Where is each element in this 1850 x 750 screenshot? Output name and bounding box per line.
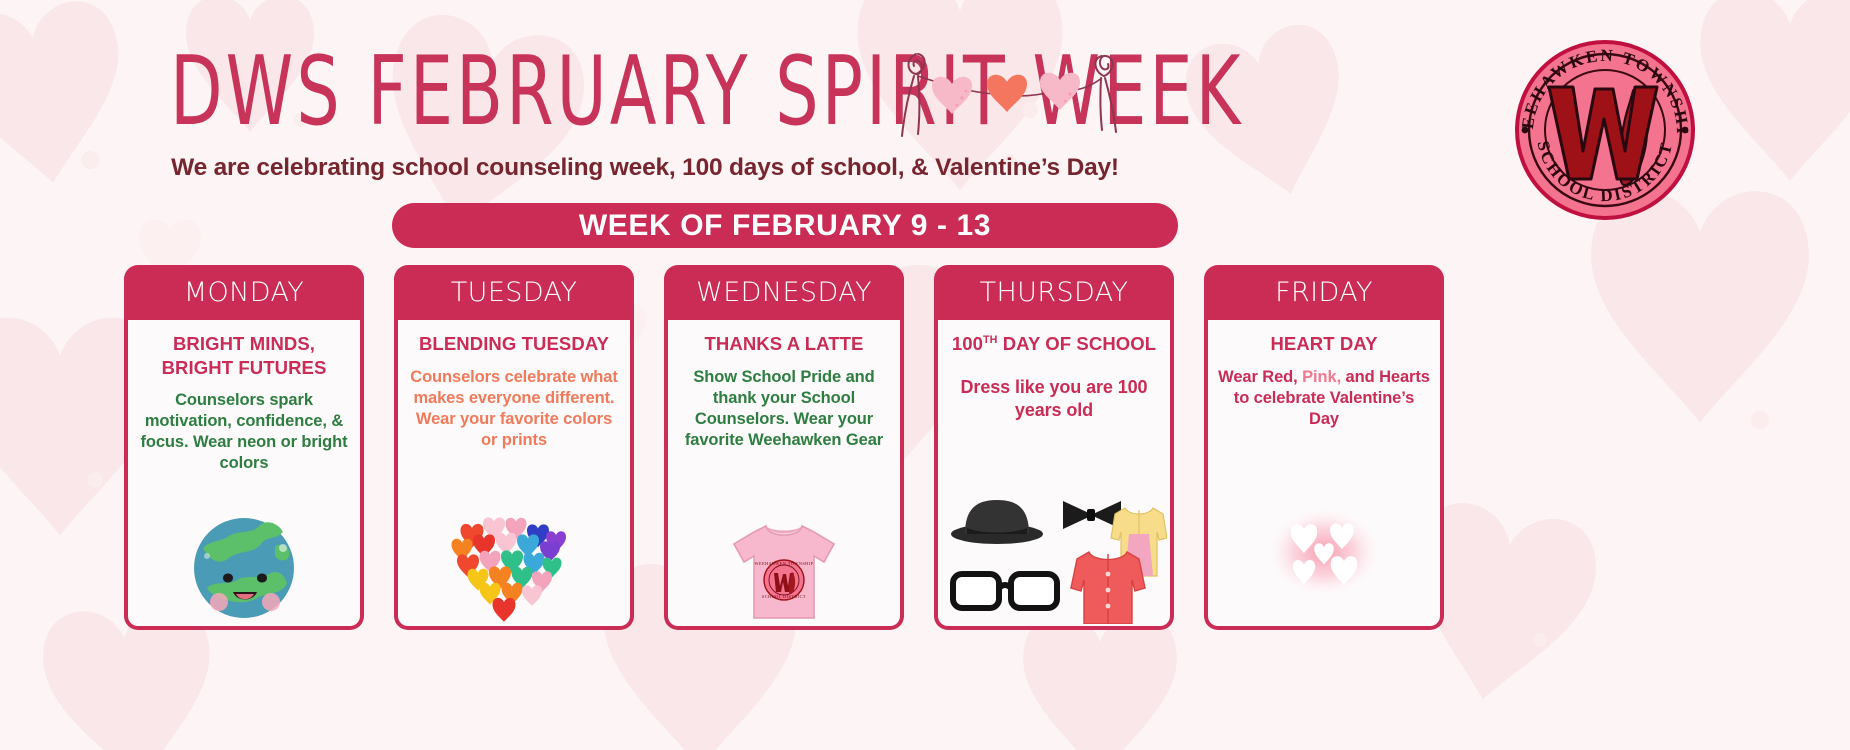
smiling-earth-globe-illustration xyxy=(183,506,305,624)
page-header: DWS FEBRUARY SPIRIT WEEK xyxy=(0,0,1850,200)
bowler-hat-bowtie-glasses-cardigan-illustration xyxy=(941,492,1167,624)
day-card-header-friday: FRIDAY xyxy=(1204,265,1444,320)
day-card-body-monday: BRIGHT MINDS, BRIGHT FUTURES Counselors … xyxy=(124,320,364,630)
page-subtitle: We are celebrating school counseling wee… xyxy=(0,154,1290,182)
day-title-monday: BRIGHT MINDS, BRIGHT FUTURES xyxy=(138,332,350,379)
svg-text:WEEHAWKEN TOWNSHIP: WEEHAWKEN TOWNSHIP xyxy=(755,561,814,566)
multicolored-hearts-heart-illustration xyxy=(446,514,582,624)
day-title-wednesday: THANKS A LATTE xyxy=(678,332,890,356)
day-card-header-monday: MONDAY xyxy=(124,265,364,320)
weehawken-township-school-district-seal: WEEHAWKEN TOWNSHIP SCHOOL DISTRICT xyxy=(1505,33,1705,223)
day-art-tuesday xyxy=(398,514,630,624)
day-title-thursday: 100TH DAY OF SCHOOL xyxy=(948,332,1160,356)
eyeglasses-icon xyxy=(953,574,1057,608)
spirit-week-day-cards: MONDAY BRIGHT MINDS, BRIGHT FUTURES Coun… xyxy=(0,265,1850,640)
day-art-friday xyxy=(1208,504,1440,600)
day-card-body-thursday: 100TH DAY OF SCHOOL Dress like you are 1… xyxy=(934,320,1174,630)
day-art-thursday xyxy=(938,492,1170,624)
day-card-body-friday: HEART DAY Wear Red, Pink, and Hearts to … xyxy=(1204,320,1444,630)
bow-tie-icon xyxy=(1063,501,1121,529)
day-name-wednesday: WEDNESDAY xyxy=(696,277,872,308)
day-title-friday: HEART DAY xyxy=(1218,332,1430,356)
heart-garland-decoration xyxy=(890,48,1130,140)
red-cardigan-icon xyxy=(1071,552,1145,624)
svg-text:SCHOOL DISTRICT: SCHOOL DISTRICT xyxy=(762,594,806,599)
day-card-wednesday: WEDNESDAY THANKS A LATTE Show School Pri… xyxy=(664,265,904,630)
day-art-wednesday: WEEHAWKEN TOWNSHIP SCHOOL DISTRICT xyxy=(668,518,900,624)
day-title-tuesday: BLENDING TUESDAY xyxy=(408,332,620,356)
day-description-monday: Counselors spark motivation, confidence,… xyxy=(138,390,350,474)
day-description-friday: Wear Red, Pink, and Hearts to celebrate … xyxy=(1218,367,1430,430)
day-description-tuesday: Counselors celebrate what makes everyone… xyxy=(408,367,620,451)
day-card-header-thursday: THURSDAY xyxy=(934,265,1174,320)
bowler-hat-icon xyxy=(951,500,1043,544)
day-description-thursday: Dress like you are 100 years old xyxy=(948,376,1160,422)
day-card-tuesday: TUESDAY BLENDING TUESDAY Counselors cele… xyxy=(394,265,634,630)
day-name-tuesday: TUESDAY xyxy=(451,277,577,308)
day-art-monday xyxy=(128,506,360,624)
glowing-white-hearts-illustration xyxy=(1264,504,1384,600)
day-description-wednesday: Show School Pride and thank your School … xyxy=(678,367,890,451)
week-of-banner-label: WEEK OF FEBRUARY 9 - 13 xyxy=(579,209,991,243)
day-card-body-wednesday: THANKS A LATTE Show School Pride and tha… xyxy=(664,320,904,630)
day-name-monday: MONDAY xyxy=(184,277,304,308)
day-card-monday: MONDAY BRIGHT MINDS, BRIGHT FUTURES Coun… xyxy=(124,265,364,630)
day-card-header-wednesday: WEDNESDAY xyxy=(664,265,904,320)
week-of-banner: WEEK OF FEBRUARY 9 - 13 xyxy=(392,203,1178,248)
day-description-segment: Wear Red, xyxy=(1218,368,1298,386)
day-description-segment: Pink, xyxy=(1298,368,1341,386)
day-card-header-tuesday: TUESDAY xyxy=(394,265,634,320)
day-card-thursday: THURSDAY 100TH DAY OF SCHOOL Dress like … xyxy=(934,265,1174,630)
day-name-friday: FRIDAY xyxy=(1275,277,1373,308)
pink-weehawken-tshirt-illustration: WEEHAWKEN TOWNSHIP SCHOOL DISTRICT xyxy=(726,518,842,624)
day-card-friday: FRIDAY HEART DAY Wear Red, Pink, and Hea… xyxy=(1204,265,1444,630)
day-name-thursday: THURSDAY xyxy=(980,277,1129,308)
day-card-body-tuesday: BLENDING TUESDAY Counselors celebrate wh… xyxy=(394,320,634,630)
